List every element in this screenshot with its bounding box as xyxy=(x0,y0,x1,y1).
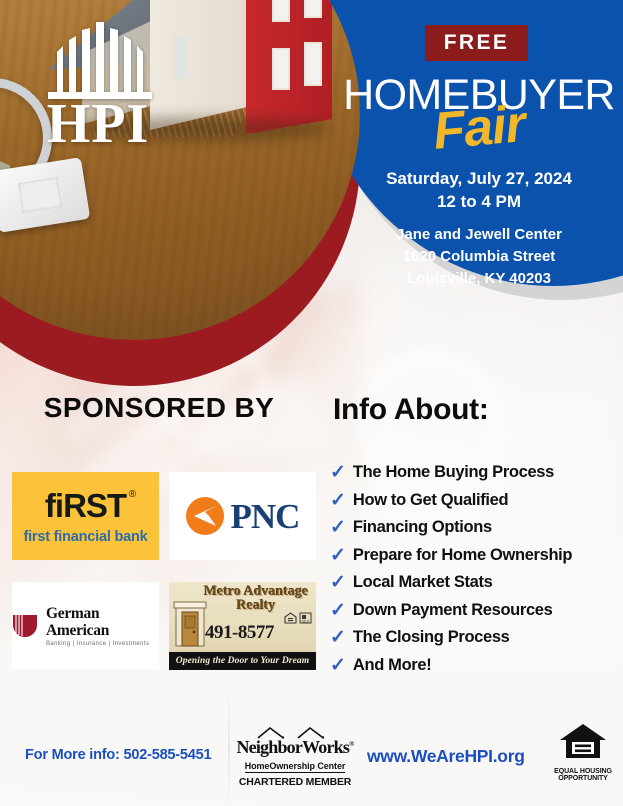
list-item-label: Prepare for Home Ownership xyxy=(353,546,572,565)
check-icon: ✓ xyxy=(330,656,346,675)
list-item-label: Local Market Stats xyxy=(353,573,493,592)
list-item-label: Down Payment Resources xyxy=(353,601,553,620)
sponsor-logo-grid: fiRST® first financial bank PNC xyxy=(12,472,316,692)
equal-housing-line1: EQUAL HOUSING xyxy=(552,768,614,775)
neighborworks-name: NeighborWorks xyxy=(236,737,349,757)
first-financial-wordmark: fiRST® xyxy=(45,487,126,525)
event-time: 12 to 4 PM xyxy=(340,191,618,214)
neighborworks-logo: NeighborWorks® HomeOwnership Center CHAR… xyxy=(236,726,354,788)
venue-city-state-zip: Louisville, KY 40203 xyxy=(340,268,618,290)
list-item: ✓ And More! xyxy=(330,655,622,675)
equal-housing-line2: OPPORTUNITY xyxy=(552,775,614,782)
list-item: ✓ Prepare for Home Ownership xyxy=(330,545,622,565)
metro-phone: 491-8577 xyxy=(205,622,274,644)
info-checklist: ✓ The Home Buying Process ✓ How to Get Q… xyxy=(330,462,622,682)
check-icon: ✓ xyxy=(330,573,346,592)
footer-website[interactable]: www.WeAreHPI.org xyxy=(367,746,525,767)
curved-banner: Free Food and Door Prizes! xyxy=(0,0,360,340)
event-title: HOMEBUYER Fair xyxy=(340,74,618,158)
pnc-arrow-icon xyxy=(186,497,224,535)
list-item-label: How to Get Qualified xyxy=(353,491,508,510)
neighborworks-line1: HomeOwnership Center xyxy=(245,761,346,773)
neighborworks-line2: CHARTERED MEMBER xyxy=(236,776,354,788)
event-date: Saturday, July 27, 2024 xyxy=(340,168,618,191)
neighborworks-roof-icon xyxy=(236,726,354,739)
equal-housing-logo: EQUAL HOUSING OPPORTUNITY xyxy=(552,722,614,783)
page-fold-line xyxy=(228,690,230,806)
check-icon: ✓ xyxy=(330,463,346,482)
metro-realtor-badges: MLS xyxy=(284,612,312,624)
equal-housing-icon xyxy=(284,612,297,624)
sponsor-logo-first-financial-bank: fiRST® first financial bank xyxy=(12,472,159,560)
first-financial-word: fiRST xyxy=(45,487,126,524)
svg-text:MLS: MLS xyxy=(302,619,310,623)
list-item: ✓ Local Market Stats xyxy=(330,572,622,592)
pnc-wordmark: PNC xyxy=(231,499,300,534)
free-badge: FREE xyxy=(425,25,528,61)
sponsors-heading: SPONSORED BY xyxy=(0,392,318,424)
venue-name: Jane and Jewell Center xyxy=(340,224,618,246)
sponsor-logo-metro-advantage-realty: Metro Advantage Realty 491-8577 MLS xyxy=(169,582,316,670)
metro-tagline: Opening the Door to Your Dream xyxy=(169,652,316,670)
neighborworks-wordmark: NeighborWorks® xyxy=(236,738,354,756)
equal-housing-text: EQUAL HOUSING OPPORTUNITY xyxy=(552,768,614,783)
footer-more-info: For More info: 502-585-5451 xyxy=(25,747,211,763)
equal-housing-house-icon xyxy=(558,722,608,762)
metro-wordmark: Metro Advantage Realty xyxy=(197,585,315,614)
german-american-wordmark: German American xyxy=(46,605,159,639)
german-american-tagline: Banking | Insurance | Investments xyxy=(46,641,159,648)
list-item: ✓ The Closing Process xyxy=(330,627,622,647)
first-financial-tagline: first financial bank xyxy=(23,529,147,545)
check-icon: ✓ xyxy=(330,518,346,537)
list-item: ✓ The Home Buying Process xyxy=(330,462,622,482)
sponsor-logo-pnc: PNC xyxy=(169,472,316,560)
list-item: ✓ Down Payment Resources xyxy=(330,600,622,620)
list-item-label: Financing Options xyxy=(353,518,492,537)
registered-mark: ® xyxy=(129,489,135,500)
list-item: ✓ How to Get Qualified xyxy=(330,490,622,510)
check-icon: ✓ xyxy=(330,546,346,565)
list-item-label: The Home Buying Process xyxy=(353,463,554,482)
homebuyer-fair-flyer: HPI Free Food and Door Prizes! FREE HOME… xyxy=(0,0,623,806)
list-item: ✓ Financing Options xyxy=(330,517,622,537)
venue-street: 1620 Columbia Street xyxy=(340,246,618,268)
check-icon: ✓ xyxy=(330,628,346,647)
mls-icon: MLS xyxy=(299,612,312,624)
event-datetime: Saturday, July 27, 2024 12 to 4 PM xyxy=(340,168,618,214)
event-location: Jane and Jewell Center 1620 Columbia Str… xyxy=(340,224,618,289)
list-item-label: And More! xyxy=(353,656,431,675)
check-icon: ✓ xyxy=(330,491,346,510)
registered-mark: ® xyxy=(349,740,353,748)
list-item-label: The Closing Process xyxy=(353,628,510,647)
check-icon: ✓ xyxy=(330,601,346,620)
german-american-shield-icon xyxy=(12,614,38,638)
sponsor-logo-german-american: German American Banking | Insurance | In… xyxy=(12,582,159,670)
info-heading: Info About: xyxy=(333,393,489,427)
